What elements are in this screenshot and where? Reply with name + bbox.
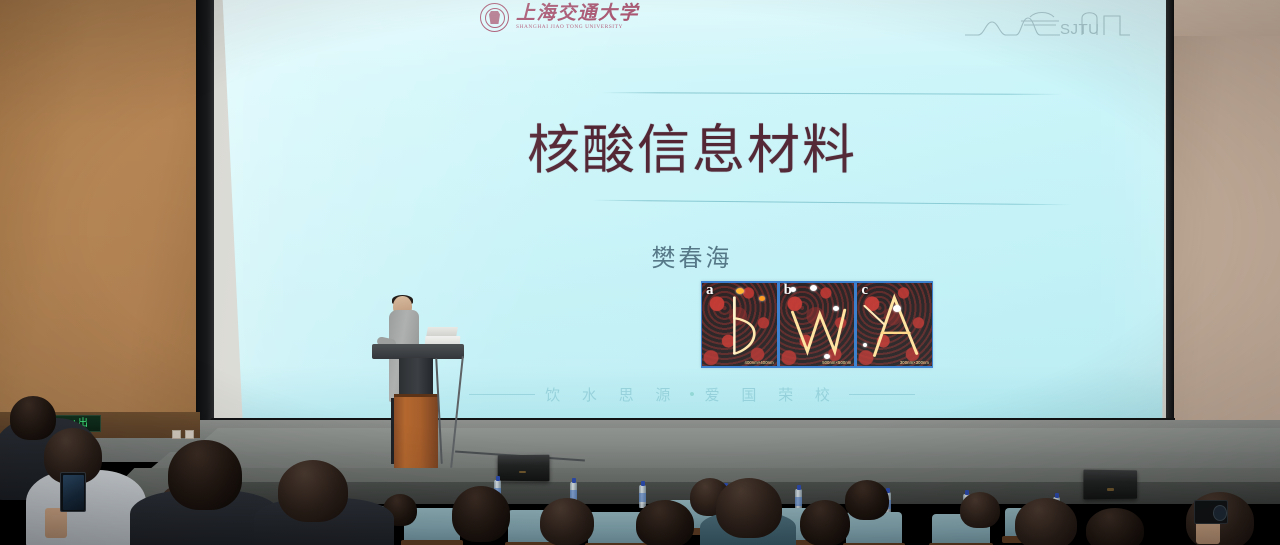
afm-panel-c-scale: 300nm×300nm — [900, 360, 929, 365]
stage-monitor-speaker-left — [498, 455, 550, 482]
audience-head — [636, 500, 694, 545]
left-wall-shading — [0, 0, 196, 432]
right-wall-panel — [1174, 0, 1280, 430]
audience-head — [716, 478, 782, 538]
lectern-top — [372, 344, 464, 359]
sjtu-name-en: SHANGHAI JIAO TONG UNIVERSITY — [516, 25, 639, 30]
audience-head — [1015, 498, 1077, 545]
presentation-slide: 上海交通大学 SHANGHAI JIAO TONG UNIVERSITY SJT — [218, 0, 1166, 424]
motto-rule-right — [849, 394, 915, 395]
lectern-base — [394, 394, 438, 468]
sjtu-logo-wordmark: 上海交通大学 SHANGHAI JIAO TONG UNIVERSITY — [516, 4, 639, 30]
afm-panel-b-scale: 500nm×500nm — [822, 360, 851, 365]
afm-panel-c: c 300nm×300nm — [857, 283, 932, 366]
audience-head — [1086, 508, 1144, 545]
lectern-and-speaker — [372, 296, 472, 468]
audience-head — [800, 500, 850, 545]
slide-divider-top — [602, 92, 1062, 95]
slide-speaker-name: 樊春海 — [218, 238, 1166, 273]
audience-head — [10, 396, 56, 440]
wall-outlet — [185, 430, 194, 439]
afm-panel-a-label: a — [706, 283, 714, 299]
auditorium-photo: 上海交通大学 SHANGHAI JIAO TONG UNIVERSITY SJT — [0, 0, 1280, 545]
afm-panel-b: b 500nm×500nm — [780, 283, 855, 366]
motto-text-first: 饮 水 思 源 — [545, 384, 679, 405]
afm-panel-a: a 400nm×400nm — [702, 283, 777, 366]
motto-rule-left — [469, 394, 535, 395]
audience-head — [452, 486, 510, 542]
phone-screen — [63, 475, 84, 510]
audience-head — [845, 480, 889, 520]
wall-outlet-group — [172, 430, 194, 439]
sjtu-logo: 上海交通大学 SHANGHAI JIAO TONG UNIVERSITY — [480, 3, 639, 32]
sjtu-motto: 饮 水 思 源 • 爱 国 荣 校 — [218, 384, 1166, 405]
lectern-column — [399, 358, 433, 398]
audience-head — [168, 440, 242, 510]
motto-dot: • — [689, 386, 694, 403]
afm-panel-a-scale: 400nm×400nm — [745, 360, 774, 365]
motto-text-second: 爱 国 荣 校 — [705, 384, 839, 405]
screen-left-dark-border — [196, 0, 214, 432]
audience-head — [278, 460, 348, 522]
sjtu-name-cn: 上海交通大学 — [516, 4, 639, 23]
svg-text:SJTU: SJTU — [1060, 21, 1100, 38]
right-wall-upper-panel — [1174, 0, 1280, 36]
sjtu-skyline-icon: SJTU — [964, 4, 1132, 40]
audience-hand — [45, 508, 67, 538]
seal-inner-mark — [489, 11, 500, 24]
water-bottle — [639, 485, 646, 508]
wall-outlet — [172, 430, 181, 439]
sjtu-seal-icon — [480, 3, 509, 32]
afm-panel-c-label: c — [861, 283, 868, 299]
audience-head — [960, 492, 1000, 528]
audience-camera[interactable] — [1194, 500, 1228, 524]
audience-head — [540, 498, 594, 545]
afm-figure-strip: a 400nm×400nm b — [701, 281, 933, 368]
slide-divider-middle — [592, 200, 1072, 206]
stage-monitor-speaker-right — [1083, 470, 1137, 500]
slide-title: 核酸信息材料 — [218, 108, 1166, 184]
projection-screen: 上海交通大学 SHANGHAI JIAO TONG UNIVERSITY SJT — [218, 0, 1166, 424]
audience-phone[interactable] — [60, 472, 86, 512]
